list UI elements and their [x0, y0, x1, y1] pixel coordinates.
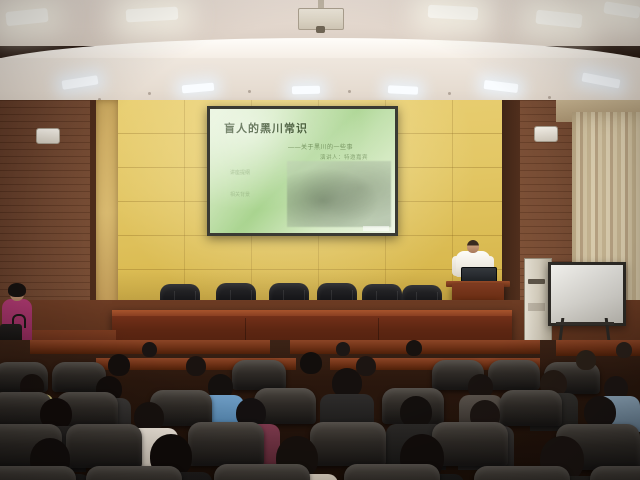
audience-seat: [188, 422, 264, 466]
projection-screen: 盲人的黑川常识 ——关于黑川的一些事 演讲人：特邀嘉宾 讲座提纲 相关背景: [207, 106, 398, 236]
audience-seat: [590, 466, 640, 480]
audience-area: [0, 340, 640, 480]
whiteboard: [548, 262, 626, 326]
ceiling-light-icon: [126, 7, 179, 23]
audience-seat: [66, 424, 142, 468]
lecture-hall-photo: 盲人的黑川常识 ——关于黑川的一些事 演讲人：特邀嘉宾 讲座提纲 相关背景: [0, 0, 640, 480]
projector-lens-icon: [316, 26, 325, 33]
audience-seat: [488, 360, 540, 390]
wall-mounted-speaker: [36, 128, 60, 144]
audience-seat: [214, 464, 310, 480]
ceiling-light-icon: [428, 5, 479, 21]
projected-slide: 盲人的黑川常识 ——关于黑川的一些事 演讲人：特邀嘉宾 讲座提纲 相关背景: [210, 109, 395, 233]
audience-seat: [0, 466, 76, 480]
audience-seat: [344, 464, 440, 480]
ceiling-sprinkler-icon: [548, 96, 551, 99]
wall-mounted-speaker: [534, 126, 558, 142]
ceiling-light-icon: [292, 86, 320, 94]
ceiling-sprinkler-icon: [148, 92, 151, 95]
audience-seat: [500, 390, 562, 426]
ceiling-light-icon: [388, 85, 418, 95]
audience-seat: [86, 466, 182, 480]
ceiling-sprinkler-icon: [348, 90, 351, 93]
whiteboard-crossbar: [556, 322, 614, 325]
ceiling-sprinkler-icon: [248, 90, 251, 93]
ceiling-sprinkler-icon: [448, 92, 451, 95]
audience-seat: [310, 422, 386, 466]
screen-glare: [210, 109, 395, 233]
speaker-head: [467, 240, 479, 253]
audience-seat: [232, 360, 286, 390]
audience-seat: [474, 466, 570, 480]
standing-attendee-hair: [8, 283, 26, 297]
